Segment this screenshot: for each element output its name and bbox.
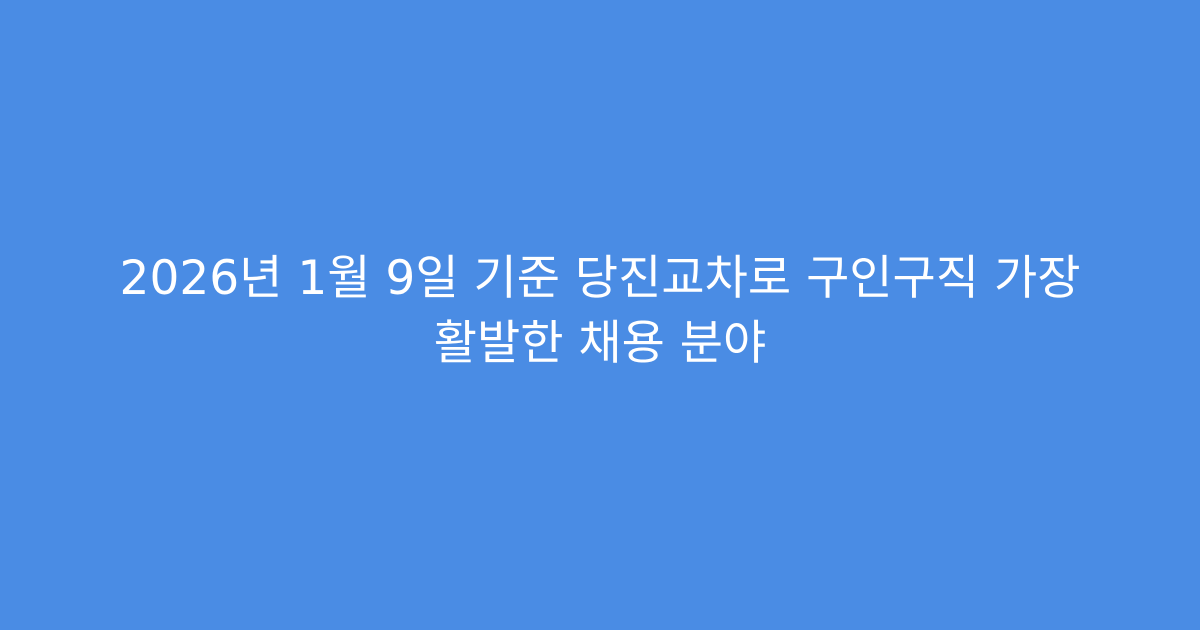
headline-block: 2026년 1월 9일 기준 당진교차로 구인구직 가장 활발한 채용 분야 — [95, 246, 1105, 376]
headline-line-1: 2026년 1월 9일 기준 당진교차로 구인구직 가장 — [95, 246, 1105, 311]
og-card-canvas: 2026년 1월 9일 기준 당진교차로 구인구직 가장 활발한 채용 분야 — [0, 0, 1200, 630]
headline-line-2: 활발한 채용 분야 — [95, 311, 1105, 376]
